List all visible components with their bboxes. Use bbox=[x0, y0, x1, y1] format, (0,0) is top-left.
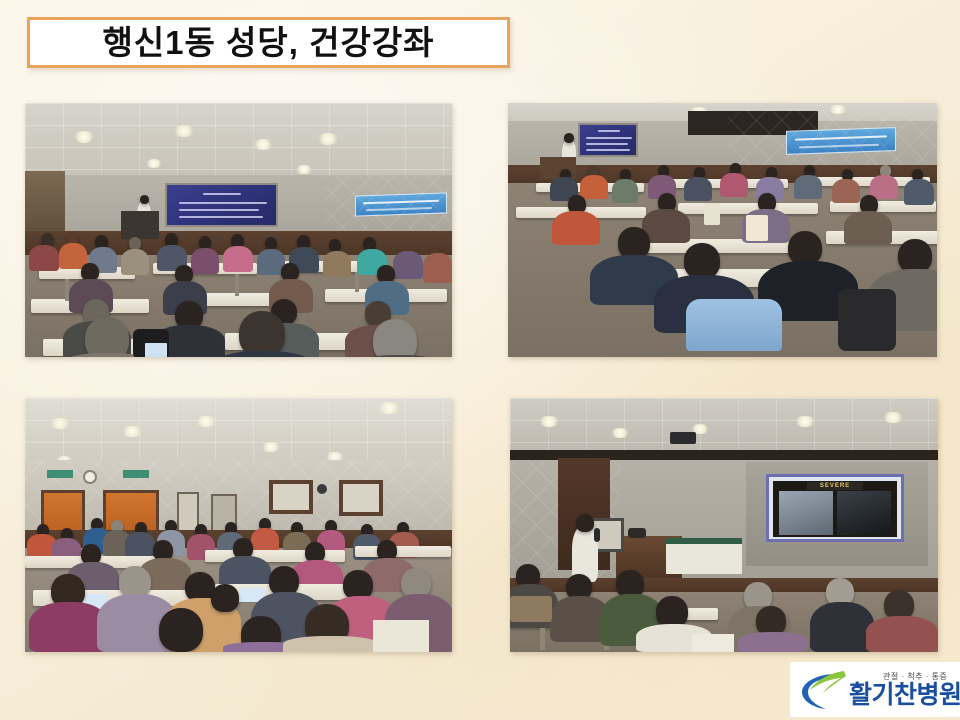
slide-frame: SEVERE bbox=[766, 474, 904, 542]
chair-back bbox=[838, 289, 896, 351]
wall-speaker-icon bbox=[317, 484, 327, 494]
handout bbox=[704, 203, 720, 225]
window bbox=[269, 480, 313, 514]
wall-window bbox=[25, 171, 65, 235]
wall-pattern bbox=[728, 111, 937, 169]
projection-screen bbox=[165, 183, 278, 227]
handout bbox=[373, 620, 429, 652]
podium bbox=[121, 211, 159, 239]
handout bbox=[692, 634, 734, 652]
tabletop-object bbox=[628, 528, 646, 538]
logo-name: 활기찬병원 bbox=[849, 683, 960, 708]
ceiling-light-icon bbox=[195, 416, 217, 427]
exit-sign-icon bbox=[123, 470, 149, 478]
projection-screen: SEVERE bbox=[746, 462, 928, 566]
ceiling-light-icon bbox=[377, 402, 401, 414]
ceiling-light-icon bbox=[173, 125, 195, 137]
photo-bottom-right: SEVERE bbox=[510, 398, 938, 652]
microphone-icon bbox=[594, 528, 600, 542]
wall-pattern bbox=[325, 175, 451, 233]
ceiling-light-icon bbox=[538, 416, 560, 427]
exit-sign-icon bbox=[47, 470, 73, 478]
slide-title-box: 행신1동 성당, 건강강좌 bbox=[27, 17, 510, 68]
ceiling-light-icon bbox=[49, 418, 71, 429]
ceiling-light-icon bbox=[295, 165, 313, 174]
logo-text: 관절 · 척추 · 통증 활기찬병원 bbox=[849, 671, 960, 708]
presenter-head bbox=[140, 195, 149, 204]
draped-table bbox=[666, 540, 742, 574]
table-runner bbox=[666, 538, 742, 544]
page-title: 행신1동 성당, 건강강좌 bbox=[102, 26, 434, 59]
handout bbox=[145, 343, 167, 357]
ceiling-light-icon bbox=[253, 139, 273, 150]
photo-bottom-left bbox=[25, 398, 452, 652]
ceiling-light-icon bbox=[882, 412, 904, 423]
photo-top-right bbox=[508, 103, 937, 357]
ceiling-light-icon bbox=[610, 428, 630, 438]
ceiling-light-icon bbox=[794, 416, 816, 427]
logo-swoosh-icon bbox=[796, 668, 848, 712]
bag bbox=[510, 596, 552, 622]
ceiling-light-icon bbox=[121, 426, 143, 437]
slide-content: SEVERE bbox=[773, 481, 897, 537]
hospital-logo: 관절 · 척추 · 통증 활기찬병원 bbox=[790, 662, 960, 717]
slide-canvas: 행신1동 성당, 건강강좌 bbox=[0, 0, 960, 720]
xray-image-right bbox=[837, 491, 891, 535]
wall-clock-icon bbox=[83, 470, 97, 484]
slide-label: SEVERE bbox=[807, 482, 863, 490]
draped-coat bbox=[686, 299, 782, 351]
ceiling-light-icon bbox=[145, 159, 163, 168]
ceiling-grid bbox=[510, 398, 938, 456]
projection-screen bbox=[578, 123, 638, 157]
ceiling-light-icon bbox=[261, 442, 281, 452]
ceiling-light-icon bbox=[317, 133, 339, 145]
photo-top-left bbox=[25, 103, 452, 357]
photo-top-right-scene bbox=[508, 103, 937, 357]
xray-image-left bbox=[779, 491, 833, 535]
photo-bottom-left-scene bbox=[25, 398, 452, 652]
presenter-head bbox=[576, 514, 594, 532]
handout bbox=[746, 215, 768, 241]
ceiling-light-icon bbox=[73, 131, 95, 143]
projector-icon bbox=[670, 432, 696, 444]
presenter-head bbox=[564, 133, 574, 143]
photo-bottom-right-scene: SEVERE bbox=[510, 398, 938, 652]
window bbox=[339, 480, 383, 516]
photo-top-left-scene bbox=[25, 103, 452, 357]
